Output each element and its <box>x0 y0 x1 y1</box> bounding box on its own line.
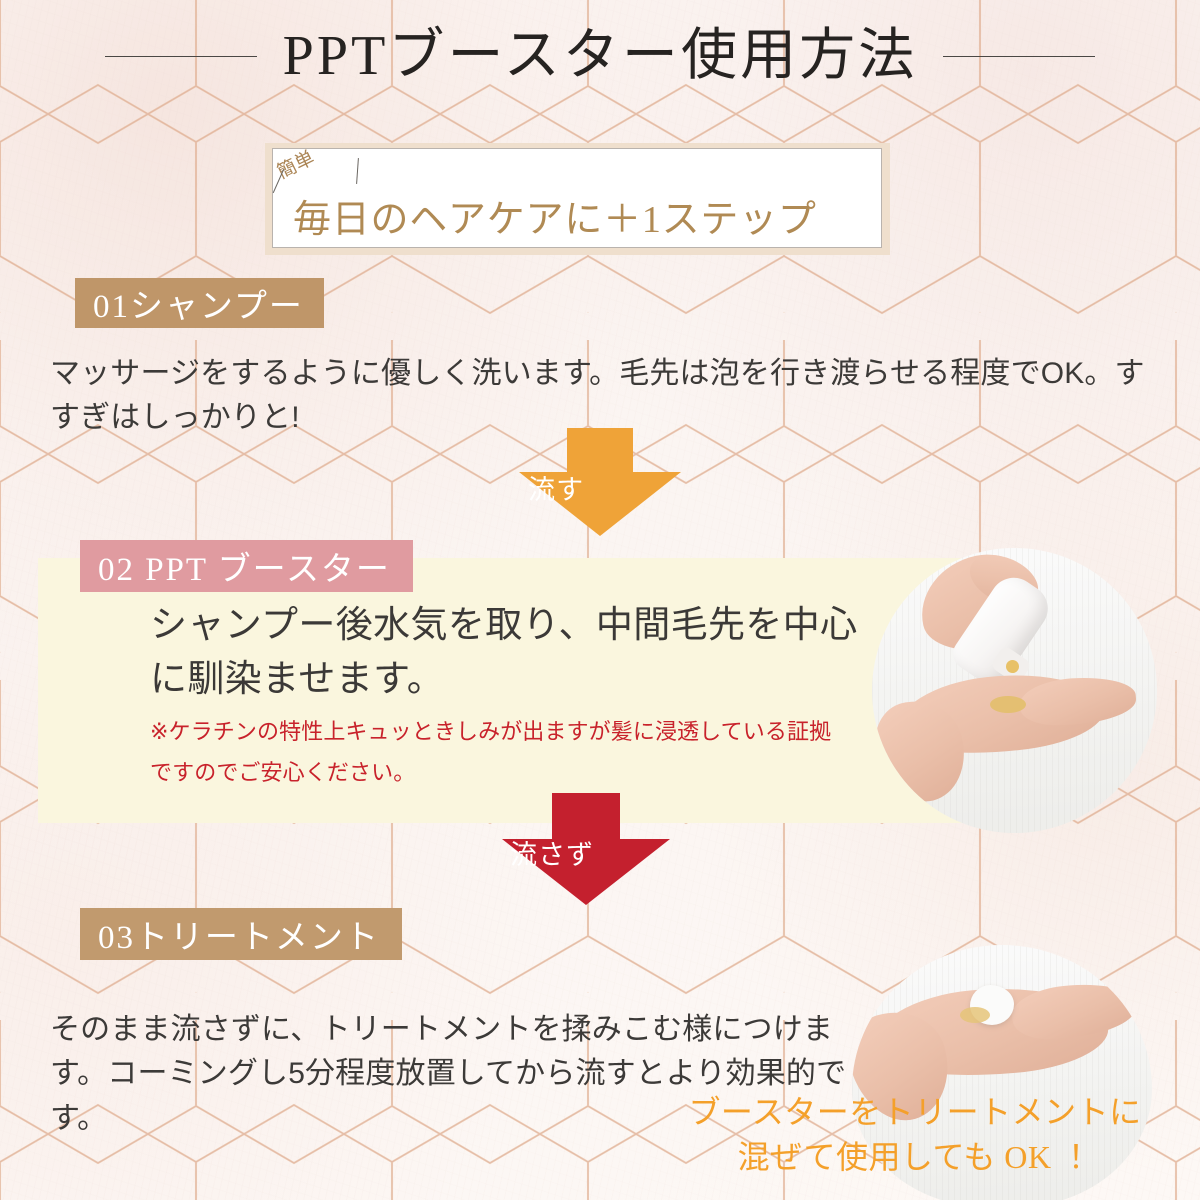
title-rule-left <box>105 56 257 57</box>
photo-02-product-drop-in-palm <box>990 696 1026 713</box>
infographic-canvas: PPTブースター使用方法 簡単 毎日のヘアケアに＋1ステップ 01シャンプー マ… <box>0 0 1200 1200</box>
mix-ok-note-line1: ブースターをトリートメントに <box>655 1090 1175 1135</box>
subtitle-text: 毎日のヘアケアに＋1ステップ <box>293 188 817 243</box>
page-title-row: PPTブースター使用方法 <box>0 26 1200 88</box>
mix-ok-note: ブースターをトリートメントに 混ぜて使用しても OK ！ <box>655 1090 1175 1181</box>
photo-booster-dispensing <box>872 548 1157 833</box>
step-01-badge: 01シャンプー <box>75 278 324 328</box>
step-02-badge: 02 PPT ブースター <box>80 540 413 592</box>
step-02-note: ※ケラチンの特性上キュッときしみが出ますが髪に浸透している証拠ですのでご安心くだ… <box>150 712 850 793</box>
arrow-do-not-rinse: 流さず <box>490 793 686 910</box>
photo-03-booster-drop <box>960 1007 990 1023</box>
photo-02-nozzle-drop <box>1006 660 1019 673</box>
arrow-rinse: 流す <box>495 428 705 541</box>
mix-ok-note-line2: 混ぜて使用しても OK ！ <box>655 1135 1175 1180</box>
arrow-rinse-label: 流す <box>528 468 584 507</box>
arrow-do-not-rinse-label: 流さず <box>510 833 594 872</box>
step-03-badge: 03トリートメント <box>80 908 402 960</box>
page-title: PPTブースター使用方法 <box>283 26 918 88</box>
step-02-body: シャンプー後水気を取り、中間毛先を中心に馴染ませます。 <box>150 598 870 705</box>
title-rule-right <box>943 56 1095 57</box>
step-01-body: マッサージをするように優しく洗います。毛先は泡を行き渡らせる程度でOK。すすぎは… <box>50 352 1155 439</box>
arrow-down-orange-icon <box>495 428 705 536</box>
